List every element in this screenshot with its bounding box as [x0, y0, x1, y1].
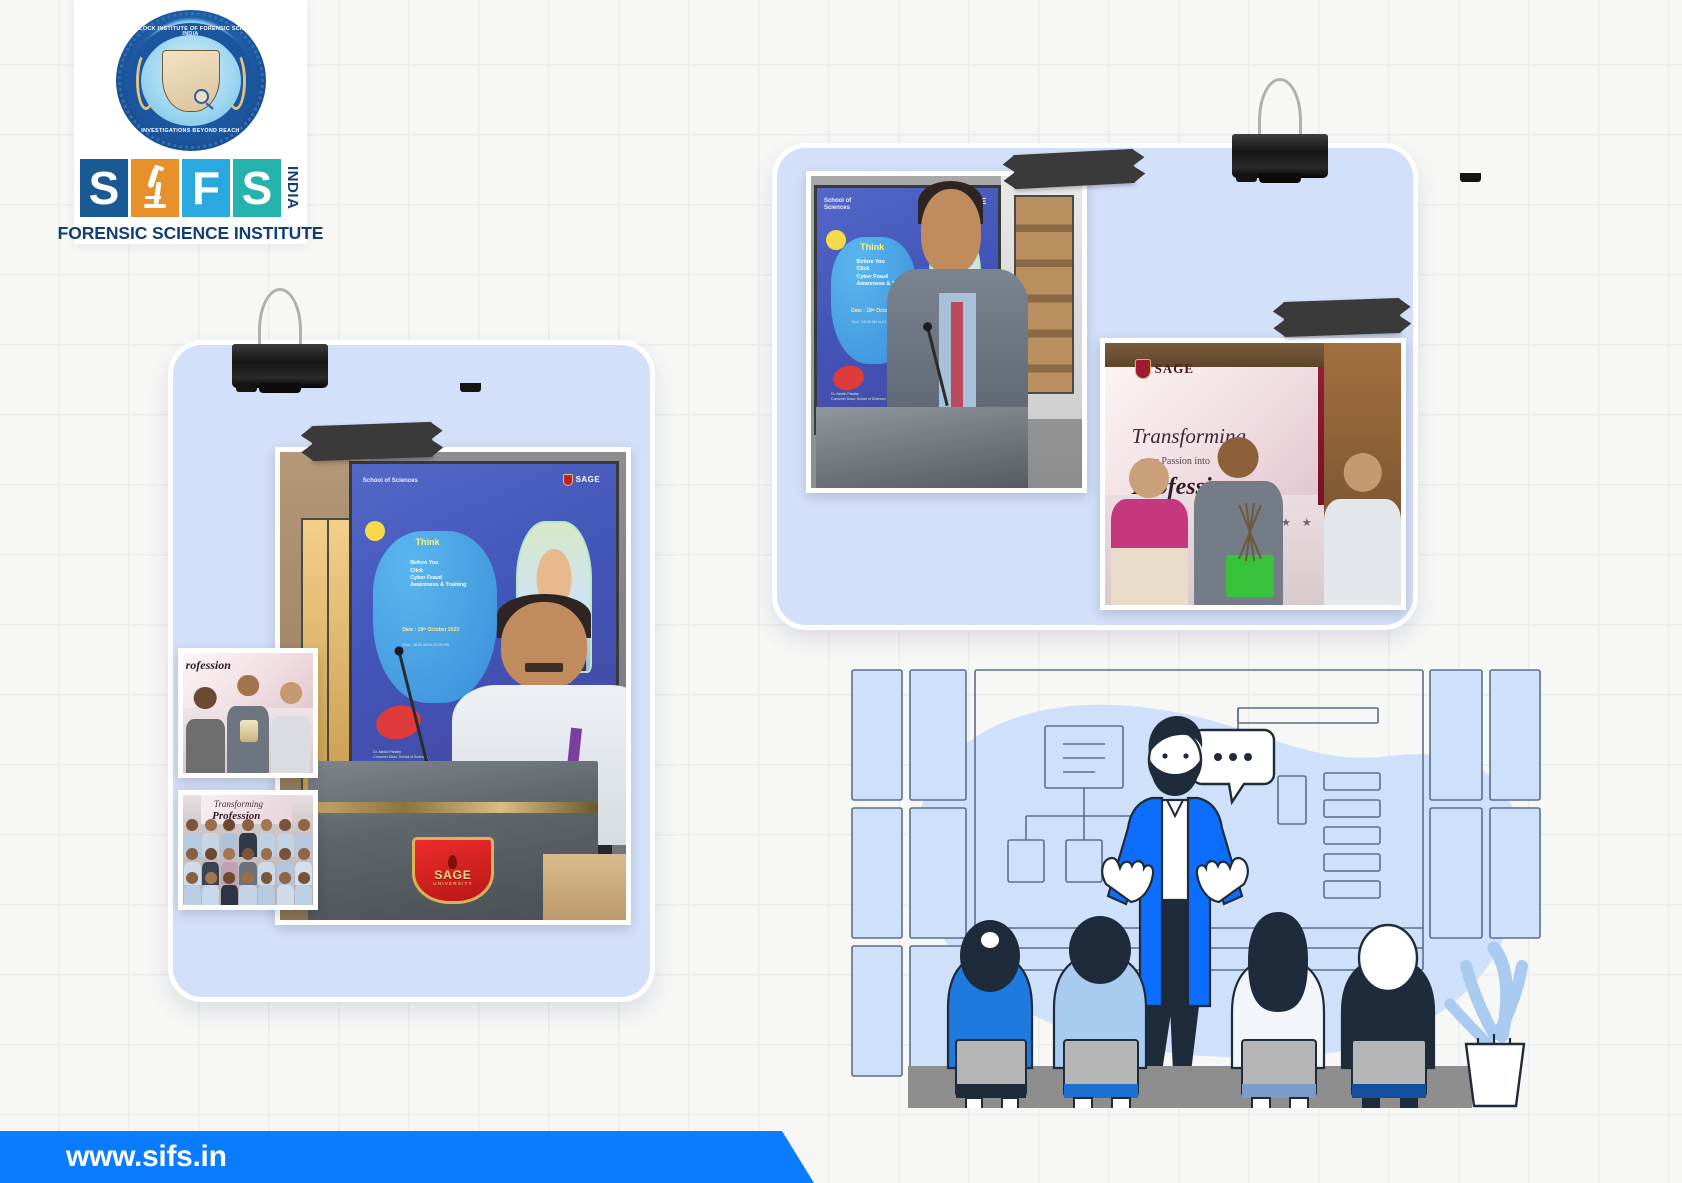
slide-time: Time : 10:00 AM to 01:00 PM — [402, 643, 448, 647]
sifs-wordmark: S F S INDIA — [80, 159, 301, 217]
binder-clip-body — [1232, 134, 1328, 178]
slide-sage-logo: SAGE — [563, 474, 601, 486]
award-plant-pot — [1226, 555, 1273, 597]
slide-date: Date : 18ᵗʰ October 2023 — [402, 627, 459, 633]
logo-india-text: INDIA — [284, 159, 301, 217]
award-person-right — [1324, 453, 1401, 605]
logo-tagline: FORENSIC SCIENCE INSTITUTE — [58, 223, 324, 244]
footer-bar: www.sifs.in — [0, 1131, 814, 1183]
photo-memento-small: rofession — [178, 648, 318, 778]
tape-strip-right-top — [1013, 149, 1135, 189]
tape-strip-right-bottom — [1283, 298, 1400, 337]
binder-clip-right — [1232, 78, 1328, 178]
logo-tile-s2: S — [233, 159, 281, 217]
sifs-logo-card: SHERLOCK INSTITUTE OF FORENSIC SCIENCE I… — [74, 0, 307, 244]
binder-clip-body — [232, 344, 328, 388]
group-row-front — [183, 872, 313, 905]
crest-bottom-text: INVESTIGATIONS BEYOND REACH — [116, 129, 266, 134]
photo-main-lecture: School of Sciences SAGE Think Before You… — [275, 447, 631, 925]
slide-subtitle: Before You Click Cyber Fraud Awareness &… — [410, 560, 510, 589]
microscope-icon — [142, 168, 168, 208]
photo-podium-speaker: School of Sciences SAGE Think Before You… — [806, 171, 1087, 493]
magnifier-icon — [194, 89, 209, 104]
classroom-presentation-illustration — [830, 648, 1550, 1108]
award-person-woman — [1111, 458, 1188, 605]
sage-university-emblem: SAGE UNIVERSITY — [412, 837, 493, 904]
thinking-emoji-icon — [365, 521, 385, 541]
binder-clip-left — [232, 288, 328, 388]
podium-speaker-figure — [892, 189, 1022, 426]
slide-school-label: School of Sciences — [363, 478, 418, 485]
photo-group-small: Transforming Profession — [178, 790, 318, 910]
slide-title: Think — [416, 537, 440, 547]
memento-person-right — [271, 682, 310, 773]
poster-canvas: SHERLOCK INSTITUTE OF FORENSIC SCIENCE I… — [0, 0, 1682, 1183]
logo-tile-s1: S — [80, 159, 128, 217]
logo-tile-f: F — [182, 159, 230, 217]
photo-award-presentation: SAGE Transforming your Passion into Prof… — [1100, 338, 1406, 610]
logo-tile-microscope — [131, 159, 179, 217]
inset-banner-text: rofession — [186, 658, 231, 673]
memento-trophy — [240, 720, 258, 742]
website-url: www.sifs.in — [66, 1140, 227, 1174]
crest-top-text: SHERLOCK INSTITUTE OF FORENSIC SCIENCE I… — [116, 27, 266, 38]
tape-strip-left — [311, 422, 432, 461]
memento-person-left — [186, 687, 225, 773]
award-banner-sage-logo: SAGE — [1135, 359, 1194, 379]
podium-desk — [816, 407, 1027, 488]
sifs-crest-icon: SHERLOCK INSTITUTE OF FORENSIC SCIENCE I… — [116, 10, 266, 151]
